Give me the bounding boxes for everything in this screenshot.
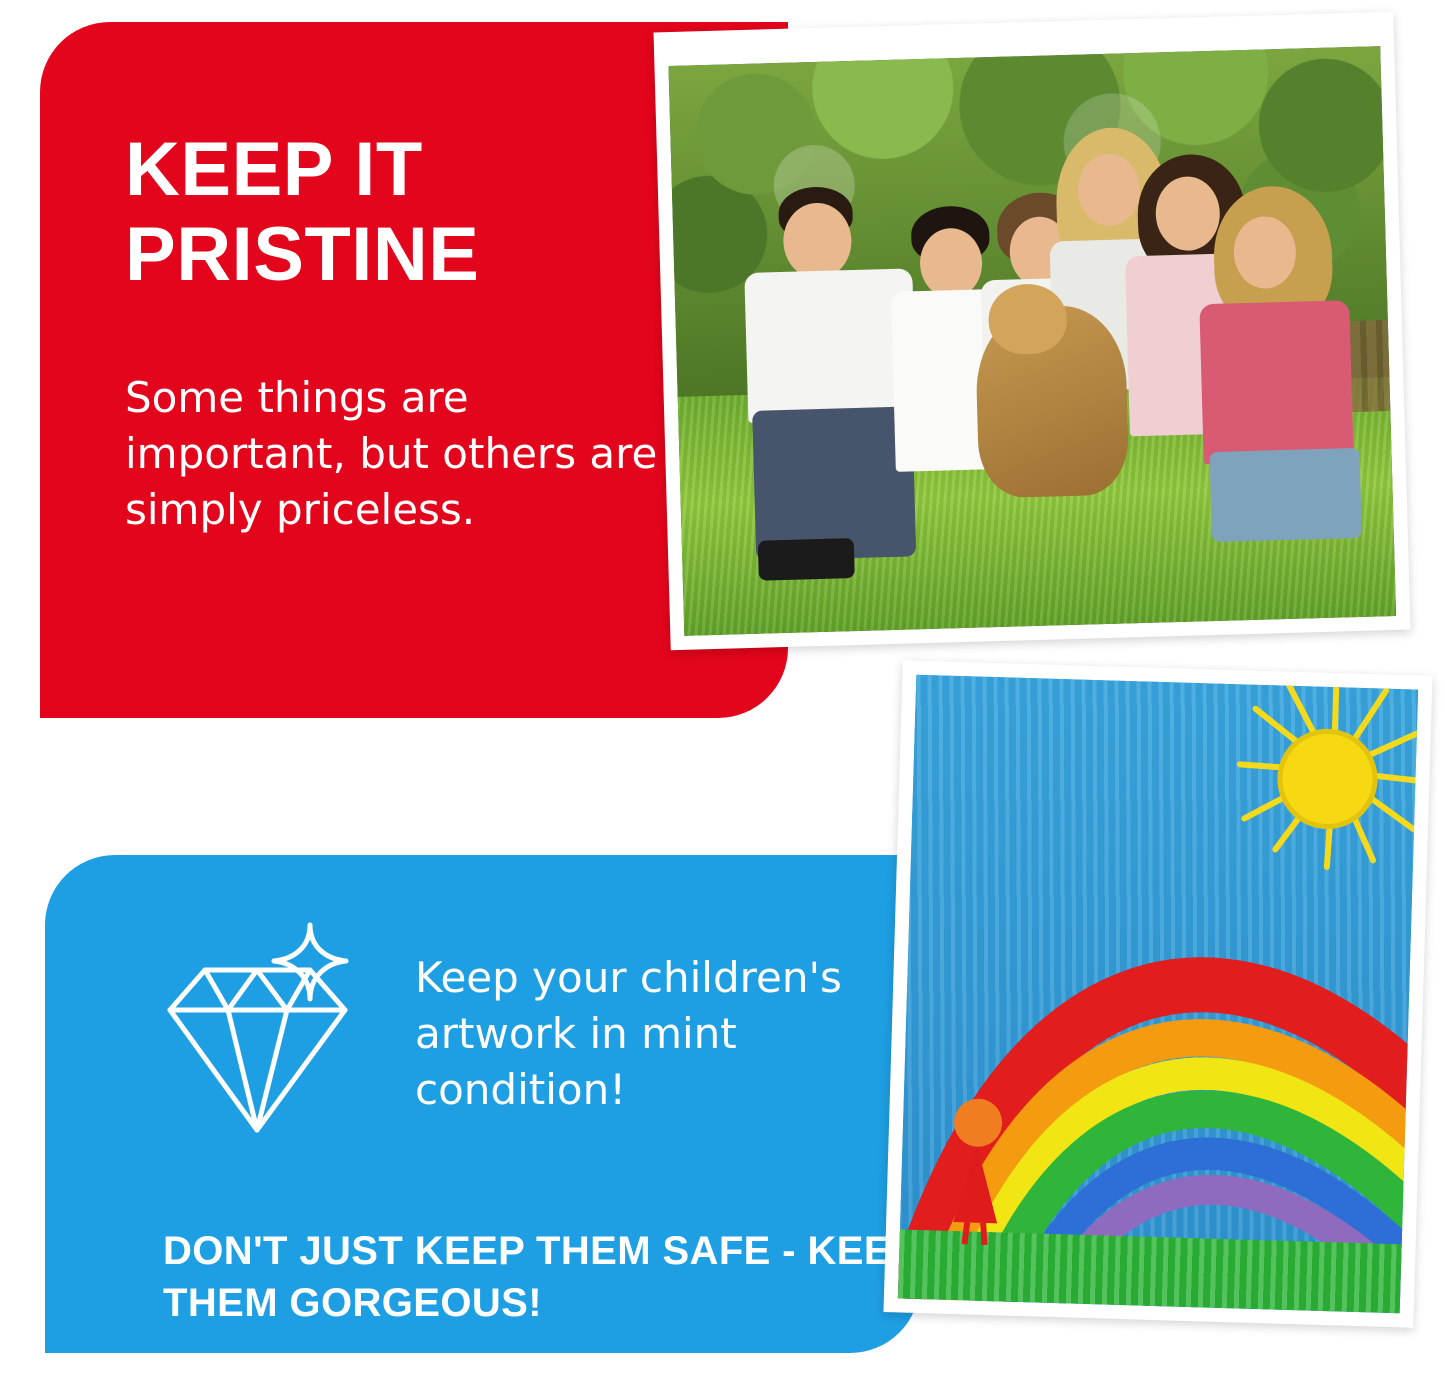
drawing-child-figure [935, 1093, 1019, 1245]
photo-person-girl-pink [1192, 183, 1377, 564]
head [919, 228, 983, 300]
diamond-gem-icon [150, 915, 365, 1145]
family-with-dog-photo [668, 46, 1396, 636]
head [782, 202, 852, 280]
shoe [758, 538, 855, 581]
family-photo-card [654, 12, 1411, 650]
photo-dog-head [988, 283, 1068, 355]
keep-artwork-panel: Keep your children's artwork in mint con… [45, 855, 920, 1353]
red-panel-subtext: Some things are important, but others ar… [125, 370, 685, 538]
shorts [1209, 448, 1361, 542]
page-title: KEEP IT PRISTINE [125, 127, 725, 297]
torso [1199, 300, 1353, 464]
child-artwork-card [883, 660, 1432, 1327]
blue-panel-bold-text: DON'T JUST KEEP THEM SAFE - KEEP THEM GO… [163, 1225, 923, 1329]
child-crayon-drawing [898, 675, 1418, 1314]
blue-panel-text: Keep your children's artwork in mint con… [415, 950, 895, 1118]
